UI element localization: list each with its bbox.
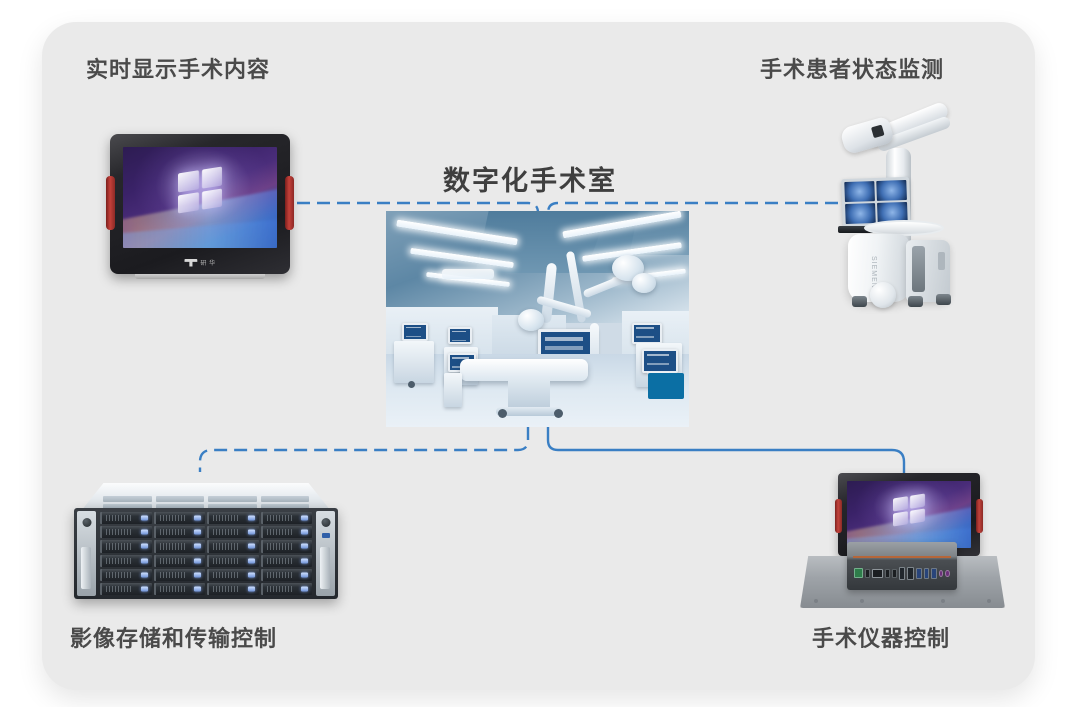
industrial-touch-monitor-icon: 研 华 [110,134,290,274]
drive-bay [100,555,152,567]
drive-bay [207,555,259,567]
node-label-control: 手术仪器控制 [812,621,950,653]
drive-bay [100,540,152,552]
operating-room-image [386,211,689,427]
drive-bay [154,555,206,567]
monitor-handle-left-icon [106,176,115,230]
drive-bay [154,569,206,581]
node-label-storage: 影像存储和传输控制 [70,621,277,653]
drive-bay [154,526,206,538]
drive-bay [261,540,313,552]
drive-bay [154,583,206,595]
drive-bay [261,512,313,524]
cart-steering-ball-icon [870,282,896,308]
center-title: 数字化手术室 [443,159,617,198]
node-label-display: 实时显示手术内容 [86,52,270,84]
drive-bay [207,569,259,581]
drive-bay [261,526,313,538]
mobile-imaging-cart-icon: SIEMENS [812,106,972,311]
drive-bay [100,512,152,524]
drive-bay [154,540,206,552]
windows-logo-icon-2 [893,493,925,526]
windows-logo-icon [178,167,222,214]
ipc-io-box [847,542,957,590]
ipc-port-row [854,562,950,584]
diagram-canvas: 实时显示手术内容 手术患者状态监测 影像存储和传输控制 手术仪器控制 数字化手术… [0,0,1080,707]
monitor-screen [123,147,277,248]
drive-bay [154,512,206,524]
drive-bay [207,526,259,538]
drive-bay [261,569,313,581]
drive-bay [100,526,152,538]
drive-bay [261,583,313,595]
drive-bay [207,540,259,552]
drive-bay [207,583,259,595]
drive-bay-grid [100,512,312,595]
drive-bay [100,583,152,595]
monitor-handle-right-icon [285,176,294,230]
node-label-monitor: 手术患者状态监测 [760,52,944,84]
rackmount-storage-server-icon [74,483,338,599]
drive-bay [100,569,152,581]
monitor-brand-mark: 研 华 [184,258,215,267]
industrial-pc-icon [800,473,1005,608]
drive-bay [261,555,313,567]
drive-bay [207,512,259,524]
